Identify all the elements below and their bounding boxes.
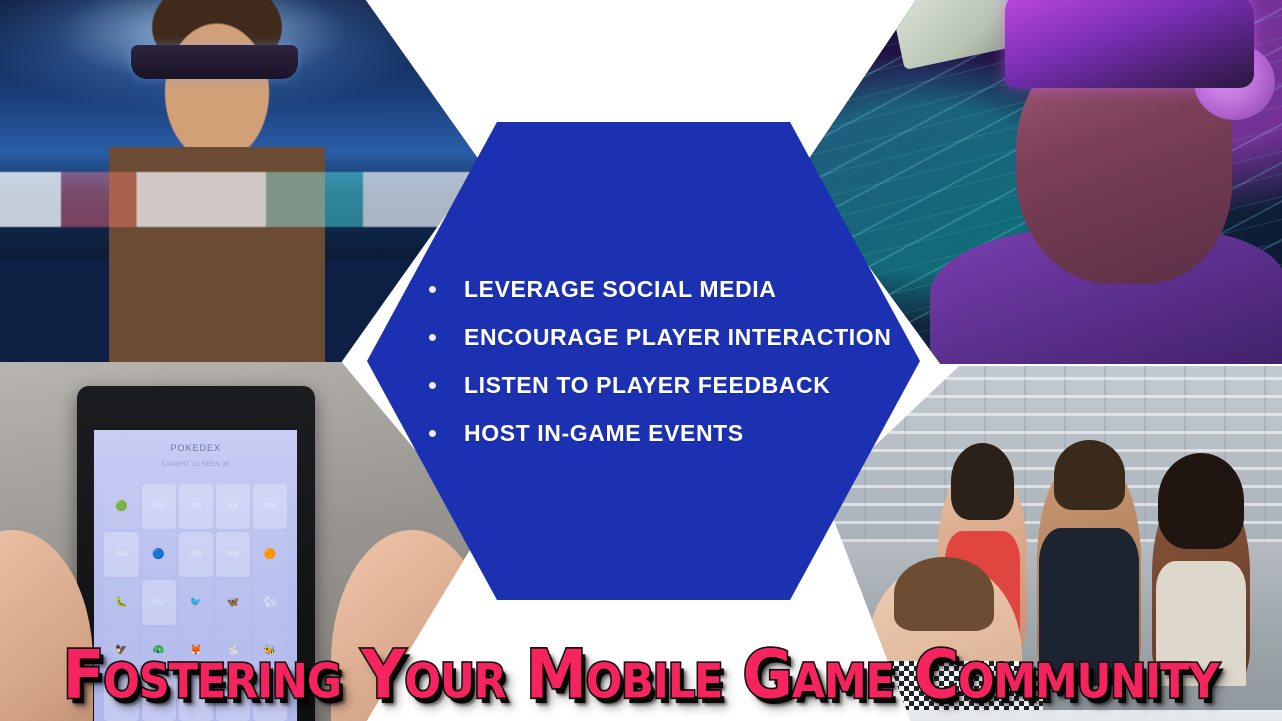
glitch-band [0, 172, 482, 227]
pokedex-title: POKEDEX [94, 443, 297, 453]
teammate-3 [1152, 478, 1251, 686]
pokedex-sprite-cell: 🐝 [253, 628, 287, 673]
pokedex-number-cell: 023 [179, 676, 213, 721]
pokedex-subtitle: CAUGHT 12 SEEN 35 [94, 462, 297, 468]
right-hand [331, 530, 482, 721]
pokedex-number-cell: 005 [253, 484, 287, 529]
pokedex-sprite-cell: 🦚 [142, 628, 176, 673]
pokedex-number-cell: 009 [216, 532, 250, 577]
pokedex-number-cell: 006 [104, 532, 138, 577]
office-table [824, 710, 1282, 721]
bullet-item: HOST IN-GAME EVENTS [429, 422, 920, 445]
pokedex-sprite-cell: 🐦 [179, 580, 213, 625]
teammate-4 [866, 566, 1022, 721]
bullet-item: ENCOURAGE PLAYER INTERACTION [429, 326, 920, 349]
pokedex-number-cell: 012 [142, 580, 176, 625]
pokedex-number-cell: 008 [179, 532, 213, 577]
pokedex-sprite-cell: 🦊 [179, 628, 213, 673]
pokedex-sprite-cell: 🟢 [104, 484, 138, 529]
pokedex-sprite-cell: 🦋 [216, 580, 250, 625]
pokedex-number-cell: 021 [104, 676, 138, 721]
pokedex-number-cell: 025 [253, 676, 287, 721]
infographic-canvas: POKEDEX CAUGHT 12 SEEN 35 🟢0020030040050… [0, 0, 1282, 721]
bullet-item: LISTEN TO PLAYER FEEDBACK [429, 374, 920, 397]
pokedex-number-cell: 002 [142, 484, 176, 529]
office-team-image [824, 366, 1282, 721]
pokedex-grid: 🟢002003004005006🔵008009🟠🐛012🐦🦋🐿🦅🦚🦊🐇🐝0210… [104, 484, 287, 721]
pokedex-number-cell: 024 [216, 676, 250, 721]
pokedex-sprite-cell: 🦅 [104, 628, 138, 673]
pokedex-number-cell: 022 [142, 676, 176, 721]
smartphone-screen: POKEDEX CAUGHT 12 SEEN 35 🟢0020030040050… [94, 430, 297, 721]
pokedex-sprite-cell: 🐛 [104, 580, 138, 625]
bullet-item: LEVERAGE SOCIAL MEDIA [429, 278, 920, 301]
tips-bullet-list: LEVERAGE SOCIAL MEDIAENCOURAGE PLAYER IN… [367, 278, 920, 445]
pokedex-number-cell: 004 [216, 484, 250, 529]
pokedex-sprite-cell: 🟠 [253, 532, 287, 577]
ar-visor-icon [131, 45, 298, 79]
panel-bottom-right [824, 366, 1282, 721]
vr-goggles-icon [1005, 0, 1253, 88]
teammate-2 [1037, 454, 1141, 686]
pokedex-sprite-cell: 🐿 [253, 580, 287, 625]
pokedex-sprite-cell: 🐇 [216, 628, 250, 673]
pokedex-sprite-cell: 🔵 [142, 532, 176, 577]
pokedex-number-cell: 003 [179, 484, 213, 529]
